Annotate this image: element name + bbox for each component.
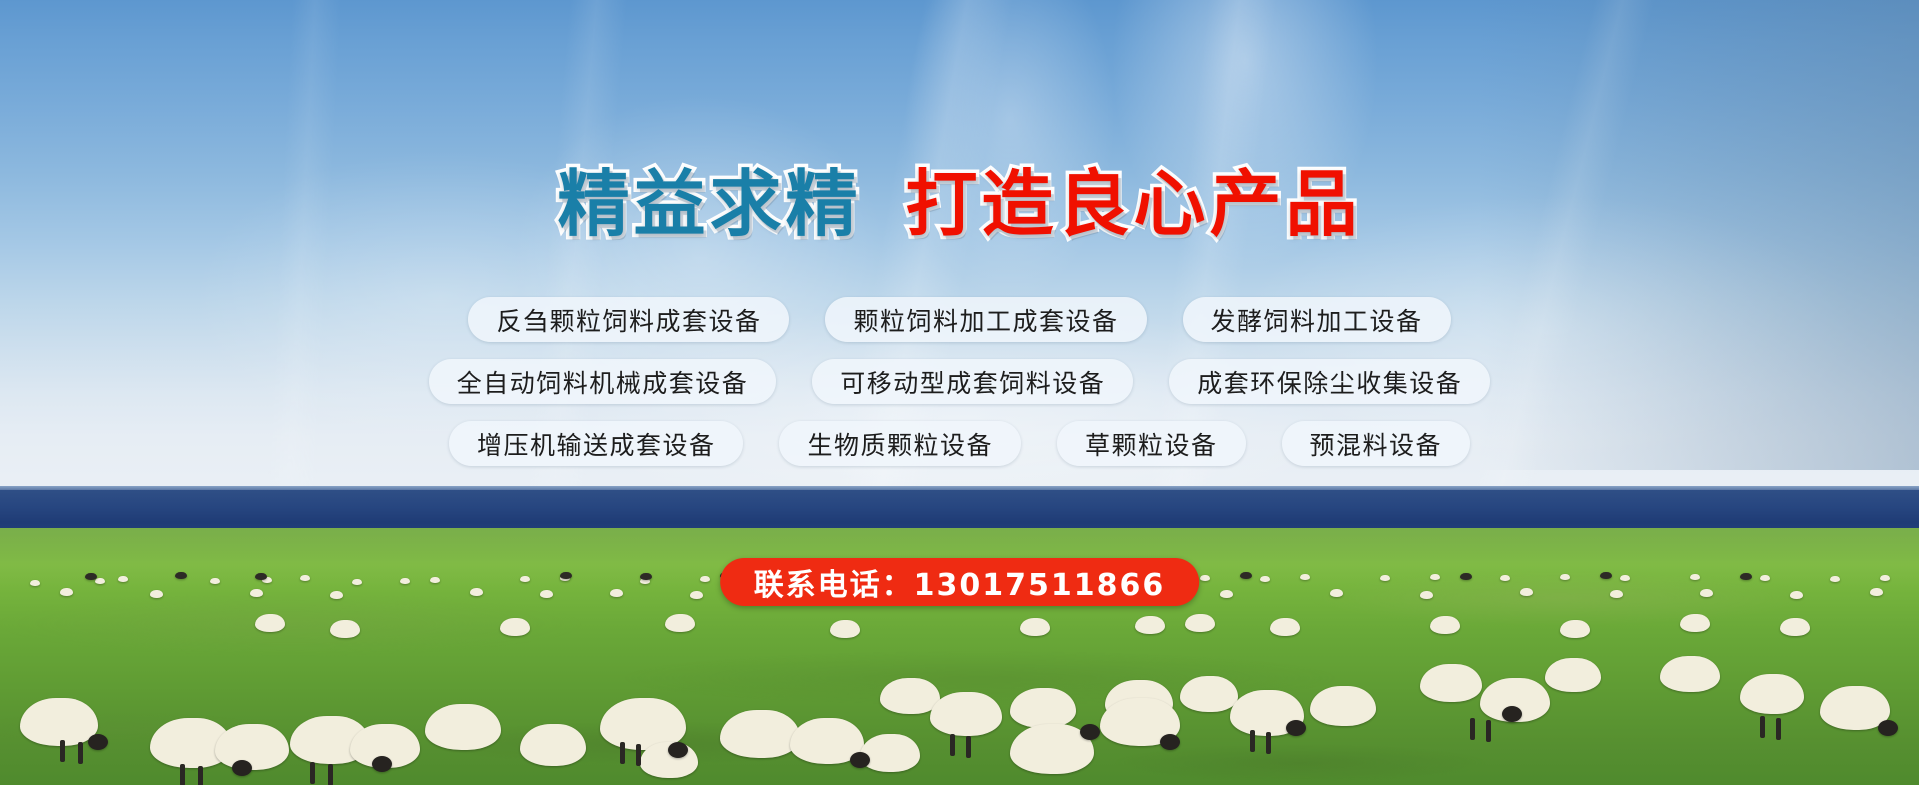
sheep: [1545, 658, 1601, 692]
sheep: [1460, 573, 1472, 580]
sheep: [1200, 575, 1210, 581]
sheep: [1270, 618, 1300, 636]
product-pill[interactable]: 生物质颗粒设备: [779, 421, 1021, 466]
sheep: [95, 578, 105, 584]
sheep: [1010, 688, 1076, 728]
sheep: [1660, 656, 1720, 692]
sheep: [1486, 720, 1491, 742]
sheep: [310, 762, 315, 784]
sheep: [1560, 574, 1570, 580]
sheep: [610, 589, 623, 597]
sheep: [1380, 575, 1390, 581]
sheep: [400, 578, 410, 584]
headline-left: 精益求精: [557, 168, 861, 240]
product-pill[interactable]: 发酵饲料加工设备: [1183, 297, 1451, 342]
contact-phone-bar[interactable]: 联系电话：13017511866: [720, 558, 1200, 606]
sheep: [198, 766, 203, 785]
product-pill-groups: 反刍颗粒饲料成套设备颗粒饲料加工成套设备发酵饲料加工设备全自动饲料机械成套设备可…: [0, 297, 1919, 466]
sheep: [1470, 718, 1475, 740]
sheep: [1430, 574, 1440, 580]
sheep: [930, 692, 1002, 736]
sheep: [560, 572, 572, 579]
sheep: [1180, 676, 1238, 712]
sheep: [1870, 588, 1883, 596]
sheep: [1250, 730, 1255, 752]
sheep: [30, 580, 40, 586]
sheep: [300, 575, 310, 581]
headline-right: 打造良心产品: [906, 168, 1362, 240]
product-pill[interactable]: 颗粒饲料加工成套设备: [825, 297, 1146, 342]
sheep: [1080, 724, 1100, 740]
product-pill[interactable]: 可移动型成套饲料设备: [812, 359, 1133, 404]
sheep: [950, 734, 955, 756]
sheep: [1780, 618, 1810, 636]
sheep: [180, 764, 185, 785]
sheep: [215, 724, 289, 770]
sheep: [1160, 734, 1180, 750]
sheep: [1776, 718, 1781, 740]
sheep: [500, 618, 530, 636]
sheep: [210, 578, 220, 584]
sheep: [88, 734, 108, 750]
sheep: [1420, 591, 1433, 599]
sheep: [620, 742, 625, 764]
sheep: [1430, 616, 1460, 634]
sheep: [540, 590, 553, 598]
product-pill-row: 全自动饲料机械成套设备可移动型成套饲料设备成套环保除尘收集设备: [429, 359, 1491, 404]
sheep: [330, 620, 360, 638]
sheep: [1620, 575, 1630, 581]
sheep: [1135, 616, 1165, 634]
sheep: [470, 588, 483, 596]
product-pill[interactable]: 增压机输送成套设备: [449, 421, 744, 466]
sheep: [1790, 591, 1803, 599]
sheep: [1310, 686, 1376, 726]
sheep: [1185, 614, 1215, 632]
sheep: [255, 573, 267, 580]
sheep: [1600, 572, 1612, 579]
product-pill[interactable]: 成套环保除尘收集设备: [1169, 359, 1490, 404]
sheep: [20, 698, 98, 746]
sheep: [60, 588, 73, 596]
sheep: [1420, 664, 1482, 702]
sheep: [425, 704, 501, 750]
sheep: [860, 734, 920, 772]
sheep: [255, 614, 285, 632]
sheep: [250, 589, 263, 597]
sheep: [328, 764, 333, 785]
sheep: [690, 591, 703, 599]
sheep: [668, 742, 688, 758]
sheep: [1260, 576, 1270, 582]
sheep: [1830, 576, 1840, 582]
sheep: [430, 577, 440, 583]
product-pill[interactable]: 预混料设备: [1282, 421, 1471, 466]
sheep: [1220, 590, 1233, 598]
sheep: [830, 620, 860, 638]
sheep: [850, 752, 870, 768]
sheep: [1266, 732, 1271, 754]
sheep: [150, 590, 163, 598]
sheep: [60, 740, 65, 762]
sheep: [78, 742, 83, 764]
sheep: [1020, 618, 1050, 636]
sheep: [1740, 674, 1804, 714]
sheep: [330, 591, 343, 599]
sheep: [720, 710, 800, 758]
product-pill[interactable]: 反刍颗粒饲料成套设备: [468, 297, 789, 342]
product-pill[interactable]: 全自动饲料机械成套设备: [429, 359, 777, 404]
sheep: [1330, 589, 1343, 597]
sheep: [1700, 589, 1713, 597]
sheep: [1740, 573, 1752, 580]
sheep: [966, 736, 971, 758]
sheep: [1610, 590, 1623, 598]
headline: 精益求精打造良心产品: [0, 168, 1919, 240]
sheep: [1680, 614, 1710, 632]
sheep: [232, 760, 252, 776]
sheep: [1520, 588, 1533, 596]
sheep: [1880, 575, 1890, 581]
sheep: [372, 756, 392, 772]
sheep: [520, 724, 586, 766]
sheep: [1240, 572, 1252, 579]
sheep: [175, 572, 187, 579]
sheep: [520, 576, 530, 582]
sheep: [1500, 575, 1510, 581]
sheep: [700, 576, 710, 582]
sheep: [1690, 574, 1700, 580]
promo-banner: 精益求精打造良心产品 反刍颗粒饲料成套设备颗粒饲料加工成套设备发酵饲料加工设备全…: [0, 0, 1919, 785]
product-pill-row: 反刍颗粒饲料成套设备颗粒饲料加工成套设备发酵饲料加工设备: [468, 297, 1450, 342]
sheep: [665, 614, 695, 632]
product-pill[interactable]: 草颗粒设备: [1057, 421, 1246, 466]
sheep: [1560, 620, 1590, 638]
sheep: [352, 579, 362, 585]
sheep: [1760, 575, 1770, 581]
sheep: [118, 576, 128, 582]
sheep: [1300, 574, 1310, 580]
sheep: [640, 573, 652, 580]
sheep: [636, 744, 641, 766]
sheep: [1878, 720, 1898, 736]
sheep: [85, 573, 97, 580]
sheep: [1286, 720, 1306, 736]
sheep: [1760, 716, 1765, 738]
product-pill-row: 增压机输送成套设备生物质颗粒设备草颗粒设备预混料设备: [449, 421, 1470, 466]
sheep: [1502, 706, 1522, 722]
